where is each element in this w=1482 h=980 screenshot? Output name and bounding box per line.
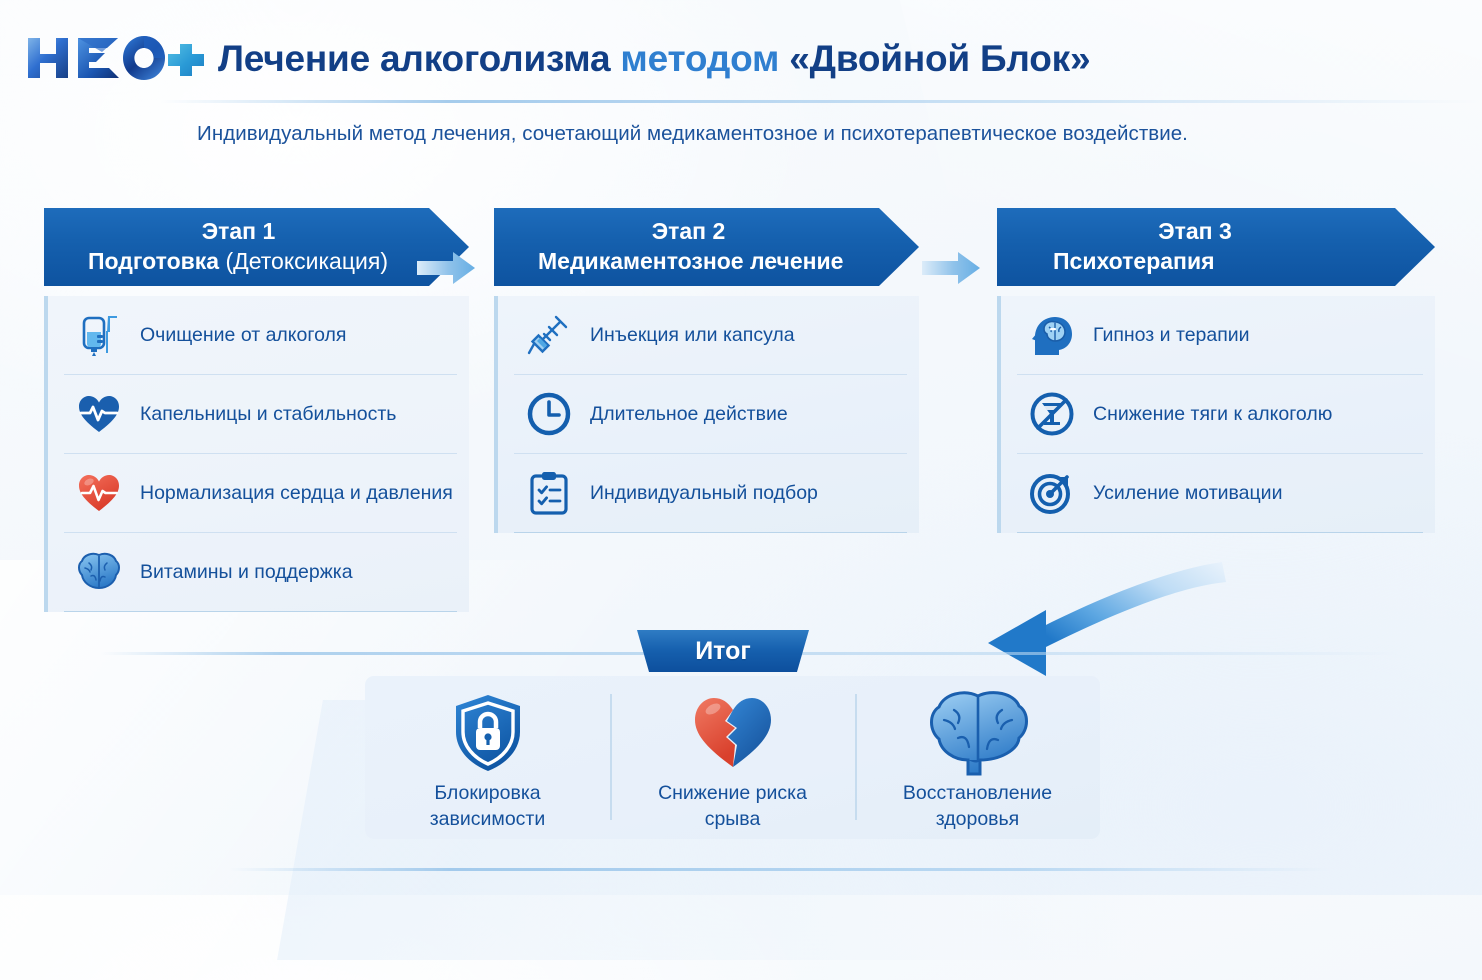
title-part-1: Лечение алкоголизма <box>218 38 610 79</box>
checklist-clipboard-icon <box>526 470 572 516</box>
stage-3-name: Психотерапия <box>1053 248 1215 274</box>
neo-plus-logo-icon <box>22 30 204 86</box>
stage-2-header: Этап 2 Медикаментозное лечение <box>494 208 919 286</box>
feature-item[interactable]: Капельницы и стабильность <box>64 375 457 454</box>
feature-item[interactable]: Очищение от алкоголя <box>64 296 457 375</box>
stage-column-1: Этап 1 Подготовка (Детоксикация) Очищени <box>44 208 469 612</box>
feature-item[interactable]: Усиление мотивации <box>1017 454 1423 533</box>
result-item-line1: Блокировка <box>434 782 540 804</box>
feature-label: Нормализация сердца и давления <box>140 482 453 505</box>
brain-icon <box>76 549 122 595</box>
page-header: Лечение алкоголизма методом «Двойной Бло… <box>0 0 1482 104</box>
stage-2-name: Медикаментозное лечение <box>538 248 843 274</box>
stage-column-2: Этап 2 Медикаментозное лечение <box>494 208 919 533</box>
feature-label: Длительное действие <box>590 403 788 426</box>
result-item-line1: Восстановление <box>903 782 1052 804</box>
stage-1-header: Этап 1 Подготовка (Детоксикация) <box>44 208 469 286</box>
feature-label: Усиление мотивации <box>1093 482 1282 505</box>
feature-item[interactable]: Нормализация сердца и давления <box>64 454 457 533</box>
heart-pulse-red-icon <box>76 470 122 516</box>
stage-3-number: Этап 3 <box>1007 217 1383 246</box>
feature-label: Гипноз и терапии <box>1093 324 1250 347</box>
stage-connector-2 <box>920 246 984 290</box>
feature-item[interactable]: Гипноз и терапии <box>1017 296 1423 375</box>
iv-drip-icon <box>76 312 122 358</box>
feature-label: Снижение тяги к алкоголю <box>1093 403 1332 426</box>
feature-label: Индивидуальный подбор <box>590 482 818 505</box>
arrow-right-icon <box>920 246 984 290</box>
feature-item[interactable]: Витамины и поддержка <box>64 533 457 612</box>
result-item-line2: здоровья <box>936 808 1020 830</box>
syringe-icon <box>526 312 572 358</box>
curved-arrow-left-icon <box>960 540 1280 680</box>
feature-label: Очищение от алкоголя <box>140 324 346 347</box>
target-arrow-icon <box>1029 470 1075 516</box>
result-flow-arrow <box>960 540 1280 680</box>
feature-item[interactable]: Длительное действие <box>514 375 907 454</box>
heart-pulse-blue-icon <box>76 391 122 437</box>
broken-heart-icon <box>690 692 776 774</box>
feature-item[interactable]: Инъекция или капсула <box>514 296 907 375</box>
feature-label: Витамины и поддержка <box>140 561 353 584</box>
result-item[interactable]: Снижение риска срыва <box>610 676 855 839</box>
result-item-line1: Снижение риска <box>658 782 807 804</box>
result-item[interactable]: Блокировка зависимости <box>365 676 610 839</box>
feature-label: Инъекция или капсула <box>590 324 795 347</box>
stage-3-header: Этап 3 Психотерапия <box>997 208 1435 286</box>
feature-label: Капельницы и стабильность <box>140 403 396 426</box>
header-divider <box>160 100 1480 103</box>
result-item[interactable]: Восстановление здоровья <box>855 676 1100 839</box>
stage-connector-1 <box>415 246 479 290</box>
title-part-2: методом <box>620 38 779 79</box>
stage-1-number: Этап 1 <box>54 217 423 246</box>
clock-icon <box>526 391 572 437</box>
stage-1-name: Подготовка <box>88 248 219 274</box>
brand-logo <box>22 30 204 86</box>
result-badge: Итог <box>637 630 809 672</box>
page-subtitle: Индивидуальный метод лечения, сочетающий… <box>0 122 1385 146</box>
feature-item[interactable]: Снижение тяги к алкоголю <box>1017 375 1423 454</box>
result-item-line2: зависимости <box>430 808 546 830</box>
result-panel: Блокировка зависимости Снижение риска ср… <box>365 676 1100 839</box>
shield-lock-icon <box>450 692 526 774</box>
result-item-line2: срыва <box>705 808 761 830</box>
stage-1-subname: (Детоксикация) <box>225 248 388 274</box>
footer-divider <box>230 868 1330 871</box>
head-brain-icon <box>1029 312 1075 358</box>
stage-2-number: Этап 2 <box>504 217 873 246</box>
stage-1-body: Очищение от алкоголя Капельницы и стабил… <box>44 296 469 612</box>
stage-column-3: Этап 3 Психотерапия Гипноз и терапии <box>997 208 1435 533</box>
stage-3-body: Гипноз и терапии Снижение тяги к алкогол… <box>997 296 1435 533</box>
no-alcohol-glass-icon <box>1029 391 1075 437</box>
stage-2-body: Инъекция или капсула Длительное действие <box>494 296 919 533</box>
feature-item[interactable]: Индивидуальный подбор <box>514 454 907 533</box>
page-title: Лечение алкоголизма методом «Двойной Бло… <box>218 33 1090 85</box>
brain-big-icon <box>926 692 1030 774</box>
title-part-3: «Двойной Блок» <box>789 38 1090 79</box>
arrow-right-icon <box>415 246 479 290</box>
